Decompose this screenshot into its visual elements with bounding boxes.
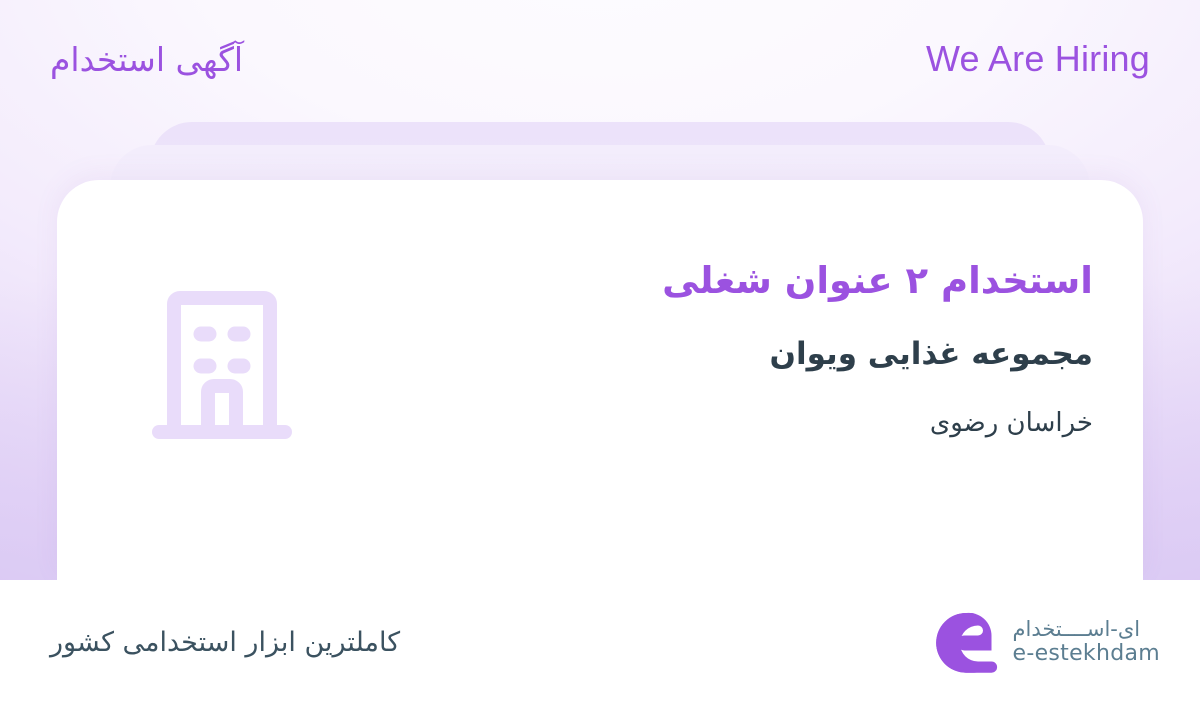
job-card-content: استخدام ۲ عنوان شغلی مجموعه غذایی ویوان … bbox=[57, 180, 1143, 580]
company-name: مجموعه غذایی ویوان bbox=[355, 334, 1093, 376]
hiring-label-persian: آگهی استخدام bbox=[50, 40, 243, 79]
brand-name-persian: ای-اســــتخدام bbox=[1013, 618, 1141, 642]
job-title: استخدام ۲ عنوان شغلی bbox=[355, 256, 1093, 306]
hiring-label-english: We Are Hiring bbox=[926, 38, 1150, 80]
brand-wordmarks: ای-اســــتخدام e-estekhdam bbox=[1013, 618, 1161, 666]
job-advertisement-banner: We Are Hiring آگهی استخدام bbox=[0, 0, 1200, 705]
hero-header: We Are Hiring آگهی استخدام bbox=[0, 0, 1200, 118]
job-info: استخدام ۲ عنوان شغلی مجموعه غذایی ویوان … bbox=[337, 222, 1093, 441]
brand-name-english: e-estekhdam bbox=[1013, 642, 1161, 667]
hero-section: We Are Hiring آگهی استخدام bbox=[0, 0, 1200, 580]
job-location: خراسان رضوی bbox=[355, 406, 1093, 441]
building-icon bbox=[147, 274, 297, 439]
brand-logo: ای-اســــتخدام e-estekhdam bbox=[935, 612, 1161, 674]
e-estekhdam-logo-icon bbox=[935, 612, 999, 674]
company-logo-slot bbox=[107, 222, 337, 439]
footer: کاملترین ابزار استخدامی کشور ای-اســــتخ… bbox=[0, 580, 1200, 705]
footer-tagline: کاملترین ابزار استخدامی کشور bbox=[50, 627, 400, 658]
